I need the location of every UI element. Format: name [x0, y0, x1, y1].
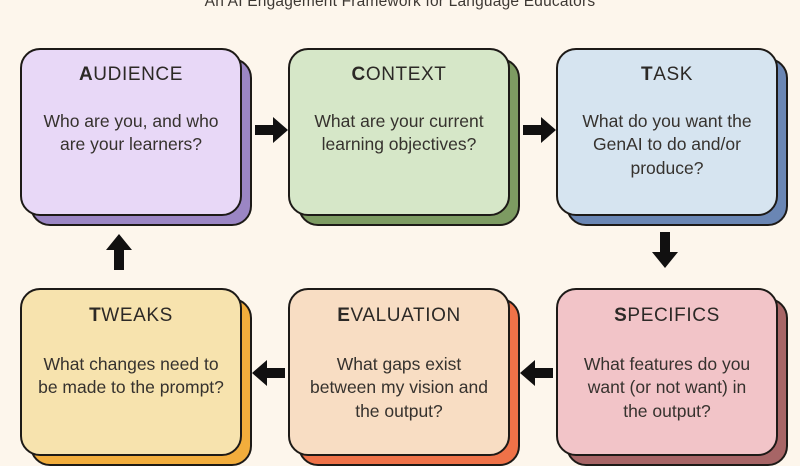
- card-lead-letter-context: C: [352, 64, 366, 85]
- card-tweaks[interactable]: TWEAKS What changes need to be made to t…: [20, 288, 242, 456]
- card-heading-tweaks: TWEAKS: [89, 305, 173, 327]
- card-body-evaluation: What gaps exist between my vision and th…: [290, 353, 508, 423]
- card-heading-rest-audience: UDIENCE: [93, 64, 183, 85]
- arrow-down-task-to-specifics-icon: [650, 232, 680, 270]
- card-heading-rest-specifics: PECIFICS: [627, 305, 719, 326]
- card-audience[interactable]: AUDIENCE Who are you, and who are your l…: [20, 48, 242, 216]
- card-lead-letter-evaluation: E: [337, 305, 350, 326]
- card-heading-context: CONTEXT: [352, 64, 447, 86]
- arrow-up-tweaks-to-audience-icon: [104, 233, 134, 271]
- card-heading-specifics: SPECIFICS: [614, 305, 720, 327]
- card-body-tweaks: What changes need to be made to the prom…: [22, 353, 240, 400]
- card-body-context: What are your current learning objective…: [290, 110, 508, 157]
- card-lead-letter-task: T: [641, 64, 653, 85]
- card-lead-letter-specifics: S: [614, 305, 627, 326]
- arrow-right-audience-to-context-icon: [255, 115, 289, 145]
- card-context[interactable]: CONTEXT What are your current learning o…: [288, 48, 510, 216]
- card-heading-task: TASK: [641, 64, 693, 86]
- card-lead-letter-tweaks: T: [89, 305, 101, 326]
- arrow-left-evaluation-to-tweaks-icon: [251, 358, 285, 388]
- card-task[interactable]: TASK What do you want the GenAI to do an…: [556, 48, 778, 216]
- card-heading-rest-tweaks: WEAKS: [101, 305, 173, 326]
- card-body-specifics: What features do you want (or not want) …: [558, 353, 776, 423]
- card-body-task: What do you want the GenAI to do and/or …: [558, 110, 776, 180]
- card-specifics[interactable]: SPECIFICS What features do you want (or …: [556, 288, 778, 456]
- card-heading-rest-evaluation: VALUATION: [351, 305, 461, 326]
- card-lead-letter-audience: A: [79, 64, 93, 85]
- card-heading-rest-task: ASK: [653, 64, 693, 85]
- card-evaluation[interactable]: EVALUATION What gaps exist between my vi…: [288, 288, 510, 456]
- card-body-audience: Who are you, and who are your learners?: [22, 110, 240, 157]
- card-heading-rest-context: ONTEXT: [366, 64, 447, 85]
- card-heading-evaluation: EVALUATION: [337, 305, 461, 327]
- arrow-right-context-to-task-icon: [523, 115, 557, 145]
- arrow-left-specifics-to-evaluation-icon: [519, 358, 553, 388]
- page-title: An AI Engagement Framework for Language …: [0, 0, 800, 11]
- card-heading-audience: AUDIENCE: [79, 64, 183, 86]
